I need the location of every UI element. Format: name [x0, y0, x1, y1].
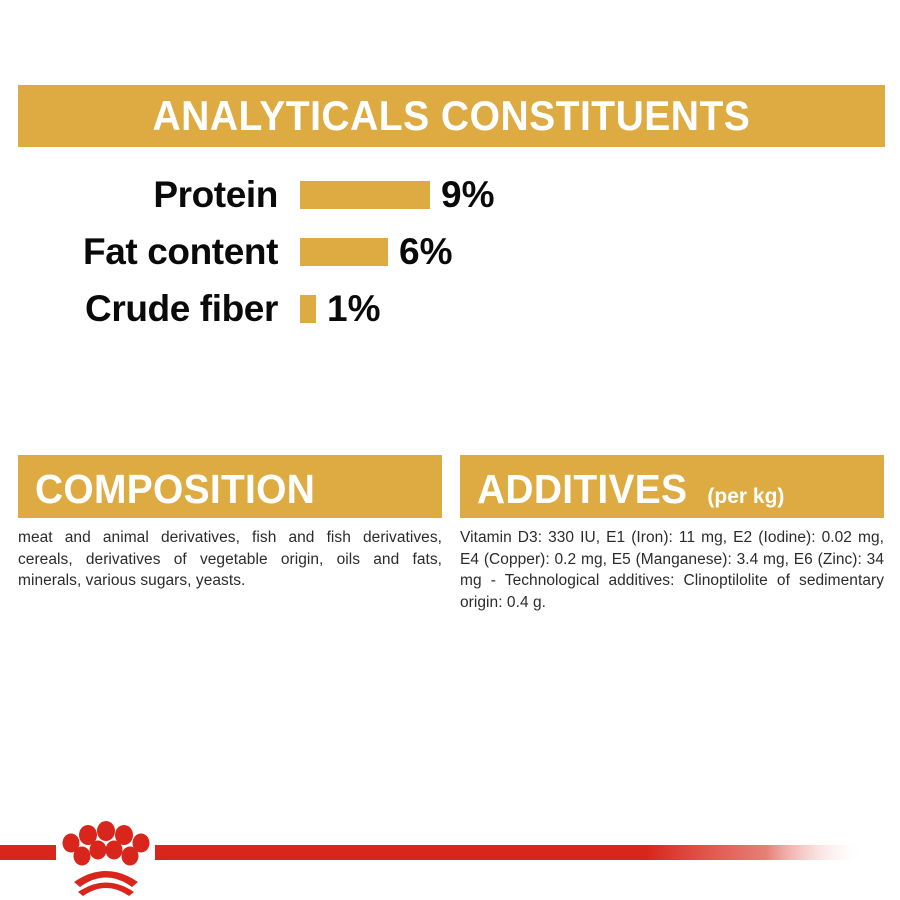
- additives-panel: ADDITIVES (per kg) Vitamin D3: 330 IU, E…: [460, 455, 884, 613]
- nutrient-row-crude-fiber: Crude fiber 1%: [18, 280, 885, 337]
- additives-header-banner: ADDITIVES (per kg): [460, 455, 884, 518]
- nutrient-label-fat-content: Fat content: [18, 233, 300, 270]
- footer-rule-left: [0, 845, 56, 860]
- crown-icon: [63, 821, 150, 896]
- composition-title: COMPOSITION: [35, 469, 315, 510]
- nutrient-value-crude-fiber: 1%: [327, 290, 380, 327]
- analyticals-header-banner: ANALYTICALS CONSTITUENTS: [18, 85, 885, 147]
- additives-subtitle: (per kg): [707, 486, 784, 507]
- nutrient-row-fat-content: Fat content 6%: [18, 223, 885, 280]
- nutrient-value-fat-content: 6%: [399, 233, 452, 270]
- additives-body-text: Vitamin D3: 330 IU, E1 (Iron): 11 mg, E2…: [460, 527, 884, 613]
- nutrients-bar-chart: Protein 9% Fat content 6% Crude fiber 1%: [18, 166, 885, 337]
- footer-rule-right: [155, 845, 900, 860]
- analyticals-constituents-section: ANALYTICALS CONSTITUENTS Protein 9% Fat …: [18, 85, 885, 337]
- analyticals-header-title: ANALYTICALS CONSTITUENTS: [153, 95, 751, 137]
- nutrient-value-protein: 9%: [441, 176, 494, 213]
- nutrient-bar-crude-fiber: [300, 295, 316, 323]
- nutrient-row-protein: Protein 9%: [18, 166, 885, 223]
- composition-panel: COMPOSITION meat and animal derivatives,…: [18, 455, 442, 613]
- nutrient-label-crude-fiber: Crude fiber: [18, 290, 300, 327]
- nutrient-label-protein: Protein: [18, 176, 300, 213]
- composition-body-text: meat and animal derivatives, fish and fi…: [18, 527, 442, 592]
- additives-title: ADDITIVES: [477, 469, 687, 510]
- nutrient-bar-fat-content: [300, 238, 388, 266]
- info-panels: COMPOSITION meat and animal derivatives,…: [18, 455, 885, 613]
- royal-canin-crown-logo: [0, 810, 900, 900]
- nutrient-bar-protein: [300, 181, 430, 209]
- composition-header-banner: COMPOSITION: [18, 455, 442, 518]
